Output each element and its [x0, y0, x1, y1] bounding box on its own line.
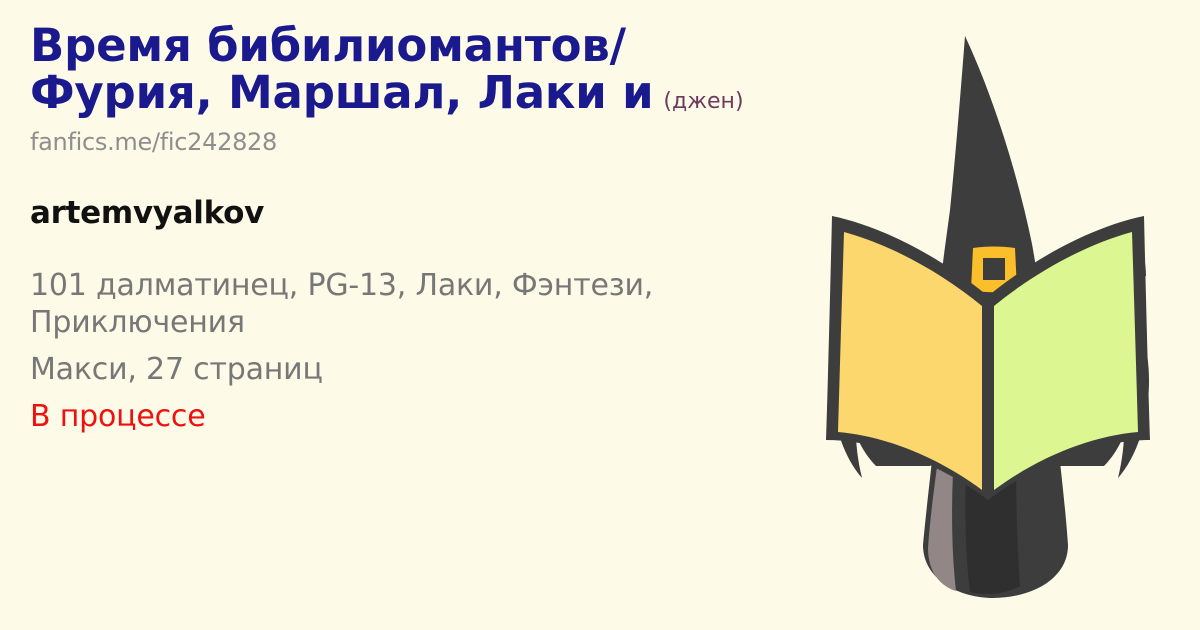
text-column: Время бибилиомантов/ Фурия, Маршал, Лаки…	[30, 22, 860, 436]
status-badge: В процессе	[30, 398, 860, 436]
page-title-line-2-wrapper: Фурия, Маршал, Лаки и(джен)	[30, 69, 860, 116]
link-preview-card: Время бибилиомантов/ Фурия, Маршал, Лаки…	[0, 0, 1200, 630]
title-rating-label: (джен)	[663, 89, 743, 114]
wizard-reading-book-icon	[780, 0, 1200, 630]
author-name[interactable]: artemvyalkov	[30, 195, 860, 231]
work-length: Макси, 27 страниц	[30, 351, 860, 389]
page-title: Время бибилиомантов/ Фурия, Маршал, Лаки…	[30, 22, 860, 117]
source-url[interactable]: fanfics.me/fic242828	[30, 128, 860, 156]
hat-buckle-hole	[983, 258, 1005, 280]
page-title-line-1: Время бибилиомантов/	[30, 22, 860, 69]
fandom-tags: 101 далматинец, PG-13, Лаки, Фэнтези, Пр…	[30, 267, 690, 343]
metadata-block: 101 далматинец, PG-13, Лаки, Фэнтези, Пр…	[30, 267, 860, 436]
page-title-line-2: Фурия, Маршал, Лаки и	[30, 66, 653, 119]
